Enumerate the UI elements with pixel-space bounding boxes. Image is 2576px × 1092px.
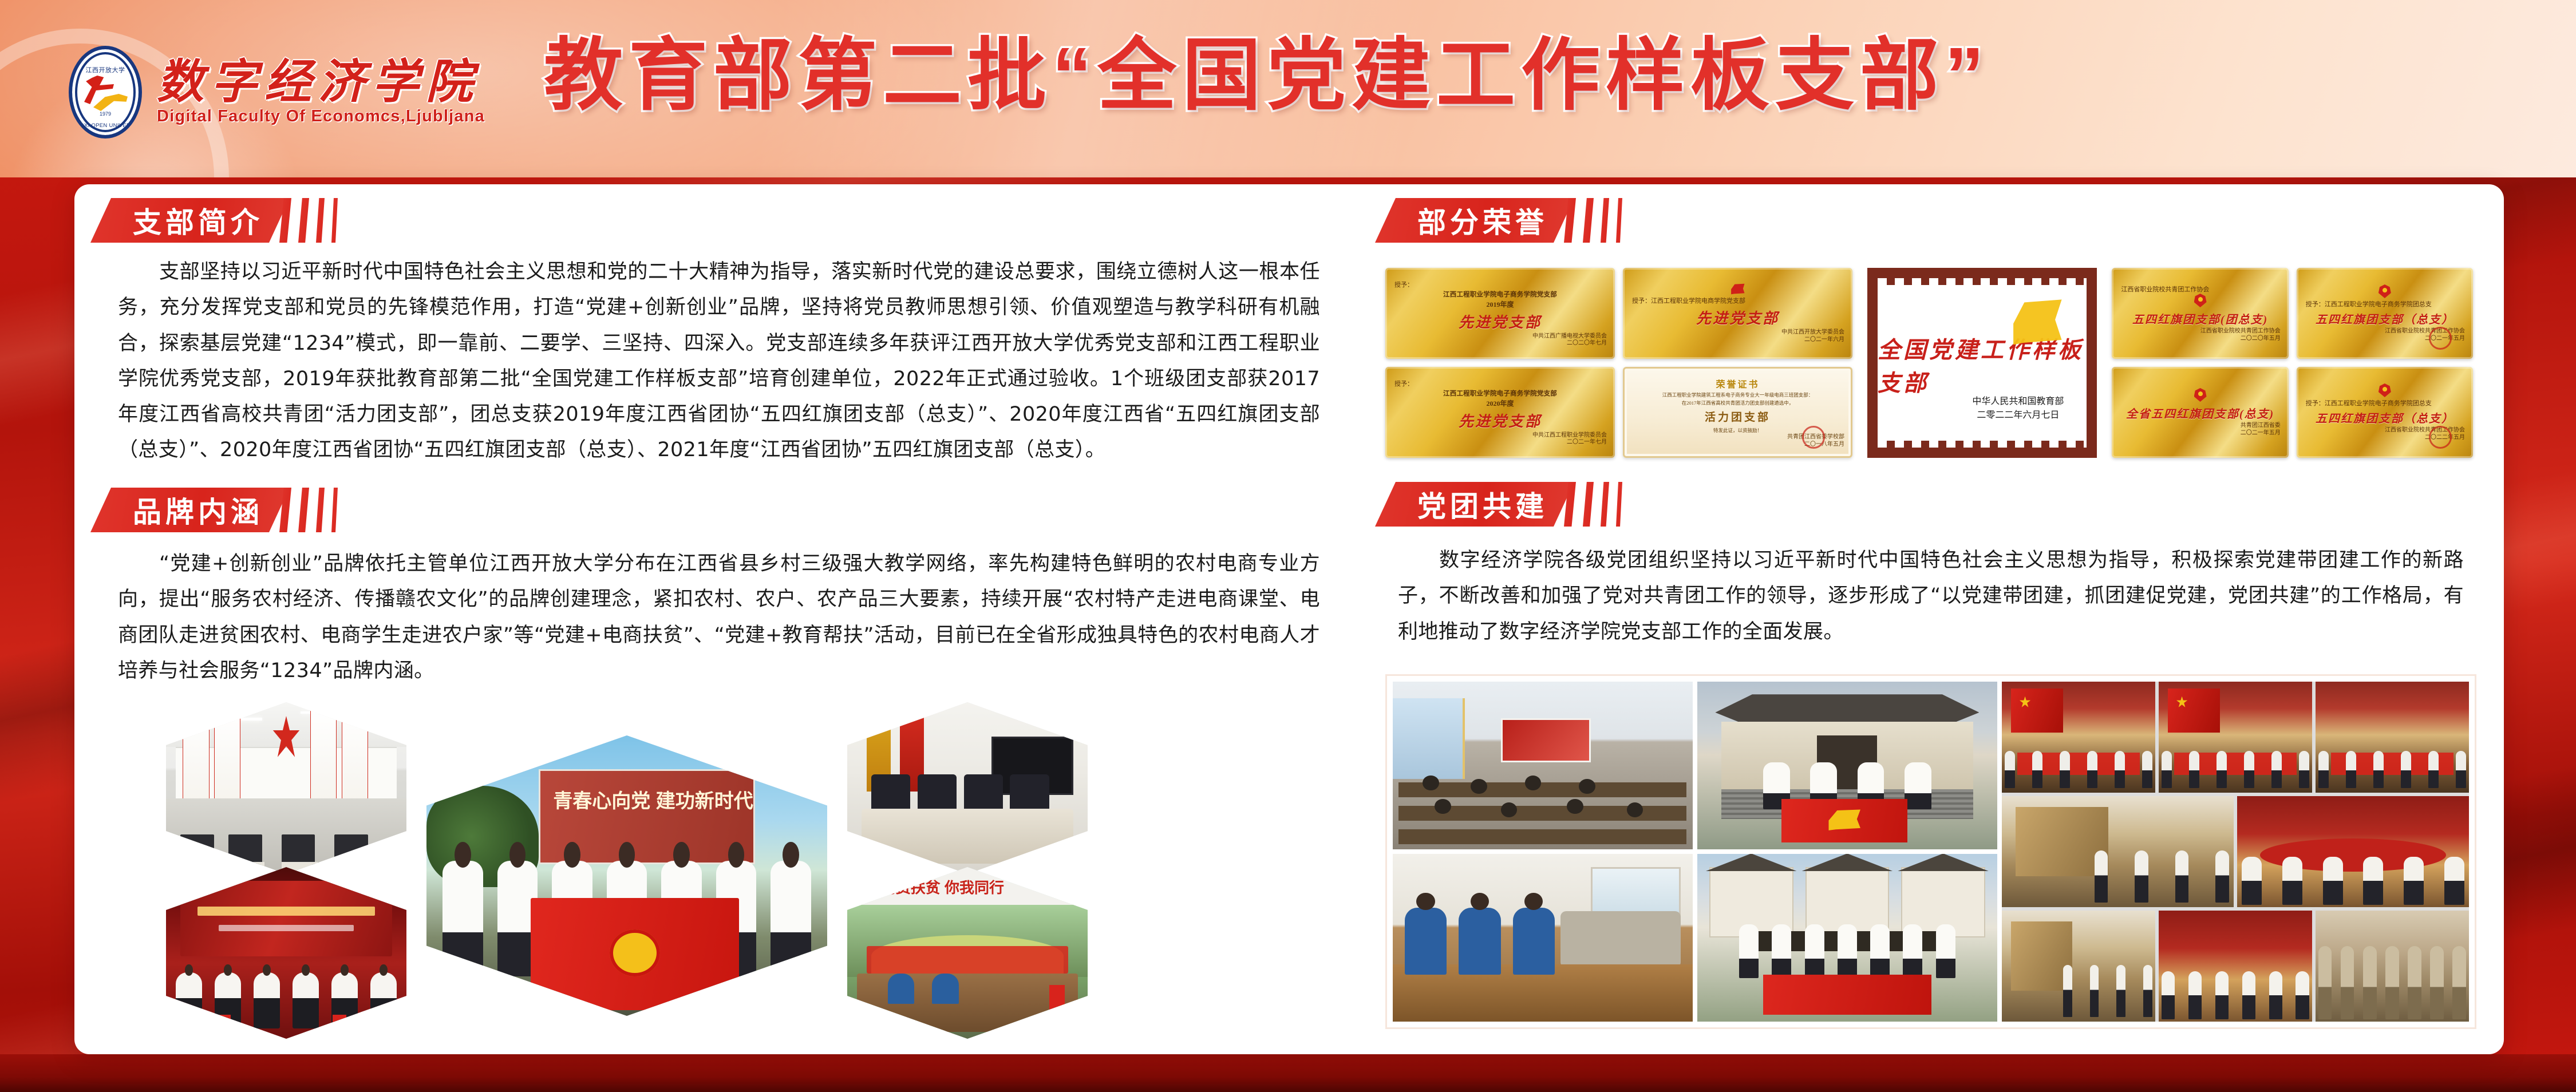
honors-plaque-strip: 授予： 江西工程职业学院电子商务学院党支部 2019年度 先进党支部 中共江西广… xyxy=(1385,260,2473,466)
plaque-may-fourth-red-flag-2021-assoc: 授予：江西工程职业学院电子商务学院团总支 五四红旗团支部（总支） 江西省职业院校… xyxy=(2297,268,2473,359)
gallery-photo-military-museum-1 xyxy=(2002,682,2155,793)
red-seal-stamp-icon xyxy=(2429,426,2452,449)
hex-photo-cluster: 青春心向党 建功新时代 消费扶贫 你我同行 xyxy=(166,702,1317,1040)
section-heading-honors: 部分荣誉 xyxy=(1375,198,1622,243)
seal-arc-top-label: 江西开放大学 xyxy=(86,65,125,74)
joint-building-photo-gallery xyxy=(1385,674,2476,1029)
gallery-photo-exhibition-hall-group xyxy=(2002,796,2234,907)
gallery-column-museum-visits xyxy=(2002,682,2469,1022)
red-seal-stamp-icon xyxy=(2429,327,2452,350)
hex-photo-student-chorus-stage xyxy=(166,867,406,1039)
seal-arc-bottom-label: JIANGXI OPEN UNIVERSITY xyxy=(69,122,142,129)
gallery-photo-revolution-memorial xyxy=(2316,682,2469,793)
section-heading-branch-intro-label: 支部简介 xyxy=(133,200,263,241)
plaque-unit: 江西工程职业学院电子商务学院党支部 xyxy=(1443,389,1557,398)
brand-names: 数字经济学院 Digital Faculty Of Economcs,Ljubl… xyxy=(157,59,485,126)
gallery-row-military-museum xyxy=(2002,682,2469,793)
honors-group-right: 江西省职业院校共青团工作协会 五四红旗团支部(团总支) 江西省职业院校共青团工作… xyxy=(2112,268,2473,458)
gallery-photo-statue-gallery-visit xyxy=(2316,911,2469,1022)
plaque-title: 五四红旗团支部（总支） xyxy=(2316,409,2454,426)
gallery-photo-military-museum-2 xyxy=(2159,682,2312,793)
section-heading-joint-building-label: 党团共建 xyxy=(1417,484,1548,525)
plaque-may-fourth-red-flag-2022-assoc: 授予：江西工程职业学院电子商务学院团总支 五四红旗团支部（总支） 江西省职业院校… xyxy=(2297,367,2473,458)
gallery-row-exhibition-discussion xyxy=(2002,796,2469,907)
gallery-photo-corridor-mural-visit xyxy=(2002,911,2155,1022)
plaque-national-model-party-branch: 全国党建工作样板支部 中华人民共和国教育部 二零二二年六月七日 xyxy=(1867,268,2097,458)
hex-photo-party-honour-meeting-room xyxy=(847,702,1088,874)
plaque-date: 二〇二一年七月 xyxy=(1567,439,1607,446)
party-emblem-icon xyxy=(2009,298,2064,346)
gallery-photo-village-ecommerce-team xyxy=(1697,854,1997,1022)
youth-league-emblem-icon xyxy=(2194,294,2207,307)
plaque-title: 先进党支部 xyxy=(1696,307,1779,328)
booth-banner-text: 消费扶贫 你我同行 xyxy=(881,876,1004,897)
plaque-title: 五四红旗团支部（总支） xyxy=(2316,310,2454,327)
red-seal-stamp-icon xyxy=(1802,426,1825,449)
plaque-issuer: 中共江西开放大学委员会 xyxy=(1781,329,1844,337)
footer-sliver xyxy=(0,1054,2576,1092)
plaque-title: 先进党支部 xyxy=(1459,410,1542,431)
left-column: 支部简介 支部坚持以习近平新时代中国特色社会主义思想和党的二十大精神为指导，落实… xyxy=(74,184,1362,1054)
plaque-date: 二〇二一年六月 xyxy=(1804,337,1844,344)
branch-intro-body: 支部坚持以习近平新时代中国特色社会主义思想和党的二十大精神为指导，落实新时代党的… xyxy=(118,254,1320,468)
content-card: 支部简介 支部坚持以习近平新时代中国特色社会主义思想和党的二十大精神为指导，落实… xyxy=(74,184,2504,1054)
gallery-photo-ancestral-hall-group xyxy=(1697,682,1997,849)
section-heading-honors-label: 部分荣誉 xyxy=(1417,200,1548,241)
hex-photo-banner-text: 青春心向党 建功新时代 xyxy=(553,785,753,813)
plaque-give-label: 授予： xyxy=(1394,280,1413,289)
plaque-issuer: 中共江西工程职业学院委员会 xyxy=(1532,432,1607,440)
certificate-line-1: 江西工程职业学院建筑工程系电子商务专业大一年级电商三班团支部： xyxy=(1662,392,1814,398)
youth-league-emblem-icon xyxy=(2194,388,2207,402)
page-title: 教育部第二批“全国党建工作样板支部” xyxy=(544,33,1990,118)
plaque-year: 2020年度 xyxy=(1487,398,1514,408)
faculty-name-en: Digital Faculty Of Economcs,Ljubljana xyxy=(157,107,485,126)
national-plaque-issuer: 中华人民共和国教育部 二零二二年六月七日 xyxy=(1972,395,2064,422)
national-plaque-issuer-label: 中华人民共和国教育部 xyxy=(1972,397,2064,406)
hex-photo-youth-league-flag-group: 青春心向党 建功新时代 xyxy=(426,735,827,1016)
plaque-issuer: 中共江西广播电视大学委员会 xyxy=(1532,333,1607,341)
plaque-give-label: 授予：江西工程职业学院电子商务学院团总支 xyxy=(2306,299,2432,308)
plaque-date: 二〇二一年五月 xyxy=(2241,430,2281,437)
honors-group-left: 授予： 江西工程职业学院电子商务学院党支部 2019年度 先进党支部 中共江西广… xyxy=(1385,268,1852,458)
plaque-unit: 江西工程职业学院电子商务学院党支部 xyxy=(1443,290,1557,299)
section-heading-brand-essence: 品牌内涵 xyxy=(90,488,338,532)
plaque-title: 先进党支部 xyxy=(1459,311,1542,332)
joint-building-body: 数字经济学院各级党团组织坚持以习近平新时代中国特色社会主义思想为指导，积极探索党… xyxy=(1398,543,2464,650)
youth-league-emblem-icon xyxy=(2379,284,2391,298)
plaque-title: 全省五四红旗团支部(总支) xyxy=(2126,405,2274,421)
youth-league-emblem-icon xyxy=(2379,383,2391,397)
hex-photo-party-history-classroom xyxy=(166,702,406,874)
plaque-give-label: 江西省职业院校共青团工作协会 xyxy=(2121,284,2209,294)
gallery-photo-home-interview xyxy=(1393,854,1693,1022)
plaque-date: 二〇二〇年五月 xyxy=(2241,335,2281,343)
section-heading-brand-essence-label: 品牌内涵 xyxy=(133,489,263,531)
gallery-photo-red-round-table xyxy=(2237,796,2469,907)
plaque-year: 2019年度 xyxy=(1487,299,1514,309)
poster-root: 江西开放大学 1979 JIANGXI OPEN UNIVERSITY 数字经济… xyxy=(0,0,2576,1092)
plaque-advanced-branch-2019: 授予： 江西工程职业学院电子商务学院党支部 2019年度 先进党支部 中共江西广… xyxy=(1385,268,1615,359)
certificate-main-title: 活力团支部 xyxy=(1705,409,1771,424)
national-plaque-date: 二零二二年六月七日 xyxy=(1977,410,2059,420)
gallery-photo-red-theme-room-group xyxy=(2159,911,2312,1022)
hex-photo-consumption-poverty-booth: 消费扶贫 你我同行 xyxy=(847,867,1088,1039)
gallery-row-mural-statues xyxy=(2002,911,2469,1022)
right-column: 部分荣誉 授予： 江西工程职业学院电子商务学院党支部 2019年度 先进党支部 … xyxy=(1362,184,2504,1054)
certificate-vitality-league-branch: 荣誉证书 江西工程职业学院建筑工程系电子商务专业大一年级电商三班团支部： 在20… xyxy=(1623,367,1852,458)
plaque-advanced-branch-2021-open-univ: 授予：江西工程职业学院电商学院党支部 先进党支部 中共江西开放大学委员会 二〇二… xyxy=(1623,268,1852,359)
faculty-name-cn: 数字经济学院 xyxy=(157,59,485,106)
plaque-give-label: 授予：江西工程职业学院电子商务学院团总支 xyxy=(2306,398,2432,407)
national-plaque-title: 全国党建工作样板支部 xyxy=(1878,331,2087,398)
plaque-may-fourth-red-flag-2020-assoc: 江西省职业院校共青团工作协会 五四红旗团支部(团总支) 江西省职业院校共青团工作… xyxy=(2112,268,2288,359)
seal-year-label: 1979 xyxy=(72,111,139,117)
certificate-line-2: 在2017年江西省高校共青团活力团支部创建遴选中， xyxy=(1682,400,1794,406)
section-heading-branch-intro: 支部简介 xyxy=(90,198,338,243)
plaque-province-may-fourth-red-flag-2021: 全省五四红旗团支部(总支) 共青团江西省委 二〇二一年五月 xyxy=(2112,367,2288,458)
brand-block: 江西开放大学 1979 JIANGXI OPEN UNIVERSITY 数字经济… xyxy=(69,46,485,139)
certificate-line-4: 特发此证，以资鼓励！ xyxy=(1713,428,1762,434)
plaque-issuer: 江西省职业院校共青团工作协会 xyxy=(2385,328,2465,335)
plaque-issuer: 江西省职业院校共青团工作协会 xyxy=(2200,328,2281,335)
seal-gold-stroke xyxy=(93,94,128,111)
plaque-date: 二〇二〇年七月 xyxy=(1567,340,1607,347)
section-heading-joint-building: 党团共建 xyxy=(1375,482,1622,527)
plaque-give-label: 授予： xyxy=(1394,379,1413,388)
party-emblem-icon xyxy=(1730,283,1745,295)
plaque-advanced-branch-2020: 授予： 江西工程职业学院电子商务学院党支部 2020年度 先进党支部 中共江西工… xyxy=(1385,367,1615,458)
plaque-title: 五四红旗团支部(团总支) xyxy=(2132,310,2268,327)
plaque-issuer: 江西省职业院校共青团工作协会 xyxy=(2385,427,2465,434)
seal-figure-icon xyxy=(81,76,130,112)
plaque-issuer: 共青团江西省委 xyxy=(2241,422,2281,430)
plaque-give-label: 授予：江西工程职业学院电商学院党支部 xyxy=(1632,296,1745,305)
brand-essence-body: “党建+创新创业”品牌依托主管单位江西开放大学分布在江西省县乡村三级强大教学网络… xyxy=(118,546,1320,689)
gallery-photo-classroom-lecture xyxy=(1393,682,1693,849)
university-seal-logo: 江西开放大学 1979 JIANGXI OPEN UNIVERSITY xyxy=(69,46,142,139)
certificate-title: 荣誉证书 xyxy=(1716,377,1760,390)
